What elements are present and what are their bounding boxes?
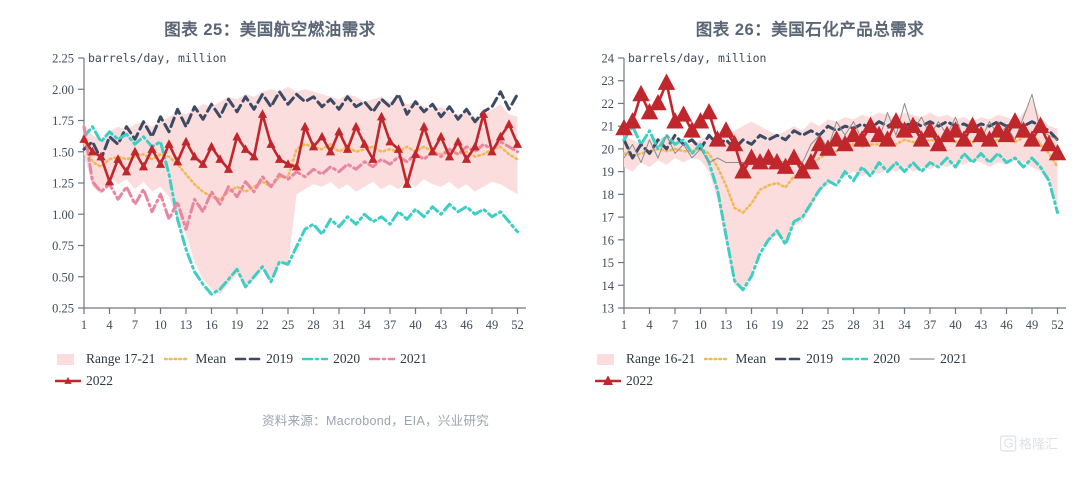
svg-text:格隆汇: 格隆汇 bbox=[1019, 437, 1058, 452]
x-tick-label: 19 bbox=[231, 318, 244, 332]
gelonghui-watermark: G 格隆汇 bbox=[1000, 432, 1072, 458]
x-tick-label: 10 bbox=[694, 318, 707, 332]
svg-text:G: G bbox=[1004, 436, 1014, 451]
legend-label: 2021 bbox=[400, 352, 427, 366]
y-tick-label: 1.25 bbox=[52, 177, 74, 191]
x-tick-label: 46 bbox=[460, 318, 473, 332]
legend-item-mean[interactable]: Mean bbox=[704, 352, 766, 366]
source-note-25: 资料来源：Macrobond，EIA，兴业研究 bbox=[262, 410, 489, 429]
x-tick-label: 46 bbox=[1000, 318, 1013, 332]
series-marker-2022 bbox=[717, 121, 734, 137]
x-tick-label: 34 bbox=[898, 318, 911, 332]
line-2021-icon bbox=[909, 352, 935, 366]
chart-svg-25: barrels/day, million2.252.001.751.501.25… bbox=[0, 46, 540, 346]
line-2019-icon bbox=[775, 352, 801, 366]
legend-label: 2019 bbox=[806, 352, 833, 366]
x-tick-label: 34 bbox=[358, 318, 371, 332]
legend-item-2022[interactable]: 2022 bbox=[55, 374, 113, 388]
x-tick-label: 52 bbox=[511, 318, 524, 332]
y-tick-label: 20 bbox=[602, 142, 615, 156]
y-tick-label: 2.25 bbox=[52, 52, 74, 66]
chart-panel-26: 图表 26：美国石化产品总需求 barrels/day, million2423… bbox=[540, 0, 1080, 464]
legend-item-range-17-21[interactable]: Range 17-21 bbox=[55, 352, 155, 366]
series-marker-2022 bbox=[658, 74, 675, 90]
y-tick-label: 23 bbox=[602, 74, 615, 88]
chart-area-26: barrels/day, million24232221201918171615… bbox=[540, 46, 1080, 346]
mean-line-icon bbox=[704, 352, 730, 366]
legend-row: Range 17-21Mean201920202021 bbox=[55, 348, 525, 370]
legend-item-2020[interactable]: 2020 bbox=[302, 352, 360, 366]
x-tick-label: 37 bbox=[384, 318, 397, 332]
legend-row: 2022 bbox=[55, 370, 525, 392]
range-band-area bbox=[84, 87, 518, 295]
legend-item-2022[interactable]: 2022 bbox=[595, 374, 653, 388]
y-tick-label: 19 bbox=[602, 165, 615, 179]
x-tick-label: 16 bbox=[745, 318, 758, 332]
chart-svg-26: barrels/day, million24232221201918171615… bbox=[540, 46, 1080, 346]
x-tick-label: 16 bbox=[205, 318, 218, 332]
legend-label: 2022 bbox=[626, 374, 653, 388]
y-tick-label: 1.75 bbox=[52, 114, 74, 128]
x-tick-label: 22 bbox=[256, 318, 269, 332]
range-swatch-icon bbox=[55, 352, 81, 366]
x-tick-label: 1 bbox=[81, 318, 87, 332]
mean-line-icon bbox=[164, 352, 190, 366]
legend-item-range-16-21[interactable]: Range 16-21 bbox=[595, 352, 695, 366]
y-axis-unit-label: barrels/day, million bbox=[88, 51, 226, 65]
legend-item-mean[interactable]: Mean bbox=[164, 352, 226, 366]
page-title-25: 图表 25：美国航空燃油需求 bbox=[0, 0, 540, 42]
legend-label: 2020 bbox=[873, 352, 900, 366]
x-tick-label: 49 bbox=[1026, 318, 1039, 332]
x-tick-label: 7 bbox=[672, 318, 678, 332]
x-tick-label: 4 bbox=[646, 318, 653, 332]
legend-label: Range 17-21 bbox=[86, 352, 155, 366]
y-tick-label: 1.50 bbox=[52, 145, 74, 159]
x-tick-label: 4 bbox=[106, 318, 113, 332]
x-tick-label: 28 bbox=[847, 318, 860, 332]
line-2019-icon bbox=[235, 352, 261, 366]
legend-25: Range 17-21Mean2019202020212022 bbox=[55, 348, 525, 392]
legend-item-2021[interactable]: 2021 bbox=[909, 352, 967, 366]
y-tick-label: 13 bbox=[602, 302, 615, 316]
figure-page: 图表 25：美国航空燃油需求 barrels/day, million2.252… bbox=[0, 0, 1080, 464]
x-tick-label: 1 bbox=[621, 318, 627, 332]
series-marker-2022 bbox=[700, 103, 717, 119]
x-tick-label: 19 bbox=[771, 318, 784, 332]
series-marker-2022 bbox=[632, 85, 649, 101]
y-tick-label: 15 bbox=[602, 256, 615, 270]
legend-label: Mean bbox=[195, 352, 226, 366]
y-axis-unit-label: barrels/day, million bbox=[628, 51, 766, 65]
legend-label: Mean bbox=[735, 352, 766, 366]
y-tick-label: 21 bbox=[602, 120, 615, 134]
x-tick-label: 31 bbox=[873, 318, 886, 332]
legend-item-2020[interactable]: 2020 bbox=[842, 352, 900, 366]
y-tick-label: 0.75 bbox=[52, 239, 74, 253]
chart-panel-25: 图表 25：美国航空燃油需求 barrels/day, million2.252… bbox=[0, 0, 540, 464]
legend-label: 2020 bbox=[333, 352, 360, 366]
x-tick-label: 10 bbox=[154, 318, 167, 332]
series-marker-2022 bbox=[624, 112, 641, 128]
legend-row: 2022 bbox=[595, 370, 1065, 392]
x-tick-label: 13 bbox=[180, 318, 193, 332]
x-tick-label: 28 bbox=[307, 318, 320, 332]
legend-label: 2019 bbox=[266, 352, 293, 366]
range-swatch-rect bbox=[597, 354, 614, 365]
line-2020-icon bbox=[842, 352, 868, 366]
x-tick-label: 43 bbox=[975, 318, 988, 332]
y-tick-label: 0.50 bbox=[52, 270, 74, 284]
x-tick-label: 25 bbox=[282, 318, 295, 332]
x-tick-label: 31 bbox=[333, 318, 346, 332]
legend-row: Range 16-21Mean201920202021 bbox=[595, 348, 1065, 370]
legend-item-2021[interactable]: 2021 bbox=[369, 352, 427, 366]
series-marker-2022 bbox=[675, 105, 692, 121]
legend-label: Range 16-21 bbox=[626, 352, 695, 366]
legend-item-2019[interactable]: 2019 bbox=[775, 352, 833, 366]
y-tick-label: 14 bbox=[602, 279, 615, 293]
line-2021-icon bbox=[369, 352, 395, 366]
line-2022-icon bbox=[55, 374, 81, 388]
x-tick-label: 13 bbox=[720, 318, 733, 332]
range-swatch-icon bbox=[595, 352, 621, 366]
legend-label: 2022 bbox=[86, 374, 113, 388]
y-tick-label: 0.25 bbox=[52, 302, 74, 316]
x-tick-label: 22 bbox=[796, 318, 809, 332]
x-tick-label: 52 bbox=[1051, 318, 1064, 332]
range-swatch-rect bbox=[57, 354, 74, 365]
y-tick-label: 16 bbox=[602, 233, 615, 247]
y-tick-label: 18 bbox=[602, 188, 615, 202]
x-tick-label: 37 bbox=[924, 318, 937, 332]
chart-area-25: barrels/day, million2.252.001.751.501.25… bbox=[0, 46, 540, 346]
line-2020-icon bbox=[302, 352, 328, 366]
legend-26: Range 16-21Mean2019202020212022 bbox=[595, 348, 1065, 392]
y-tick-label: 22 bbox=[602, 97, 615, 111]
page-title-26: 图表 26：美国石化产品总需求 bbox=[540, 0, 1080, 42]
y-tick-label: 2.00 bbox=[52, 83, 74, 97]
x-tick-label: 25 bbox=[822, 318, 835, 332]
legend-item-2019[interactable]: 2019 bbox=[235, 352, 293, 366]
x-tick-label: 40 bbox=[949, 318, 962, 332]
x-tick-label: 40 bbox=[409, 318, 422, 332]
x-tick-label: 49 bbox=[486, 318, 499, 332]
line-2022-icon bbox=[595, 374, 621, 388]
y-tick-label: 17 bbox=[602, 211, 615, 225]
y-tick-label: 24 bbox=[602, 52, 615, 66]
x-tick-label: 43 bbox=[435, 318, 448, 332]
x-tick-label: 7 bbox=[132, 318, 138, 332]
legend-label: 2021 bbox=[940, 352, 967, 366]
series-marker-2022 bbox=[649, 94, 666, 110]
y-tick-label: 1.00 bbox=[52, 208, 74, 222]
